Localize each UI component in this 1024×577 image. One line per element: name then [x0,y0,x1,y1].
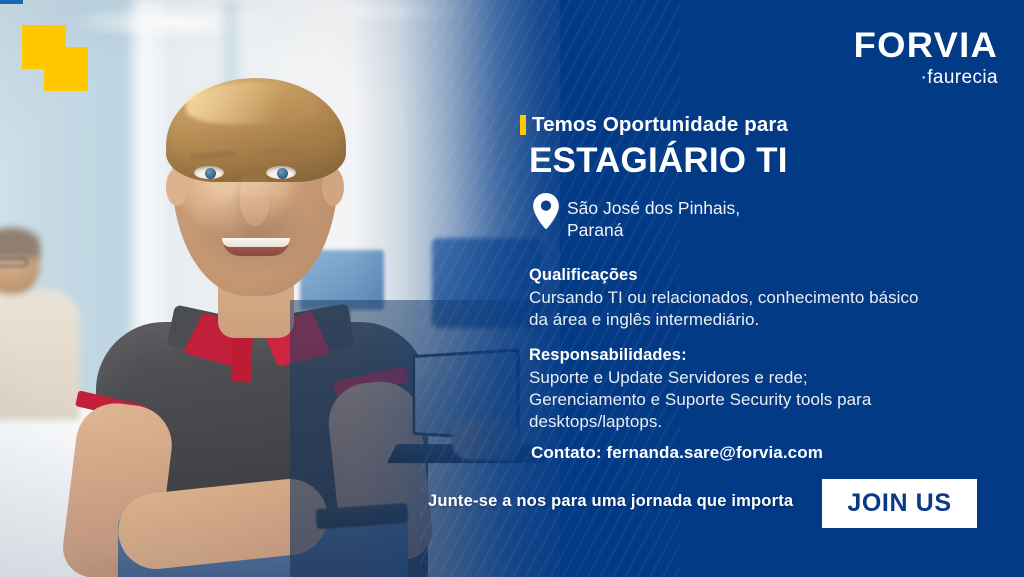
yellow-accent-bar [520,115,526,135]
section-qualificacoes: Qualificações Cursando TI ou relacionado… [529,265,989,331]
location-text: São José dos Pinhais, Paraná [567,192,740,242]
yellow-square-decor-top-b [44,47,88,91]
section-responsabilidades: Responsabilidades: Suporte e Update Serv… [529,345,989,433]
top-left-blue-strip [0,0,23,4]
kicker-text: Temos Oportunidade para [532,115,788,136]
cta-tagline: Junte-se a nos para uma jornada que impo… [428,492,793,511]
kicker-row: Temos Oportunidade para [520,115,788,136]
join-us-button[interactable]: JOIN US [822,479,977,528]
section-body: Suporte e Update Servidores e rede; Gere… [529,367,989,432]
join-us-button-label: JOIN US [847,491,951,516]
section-heading: Responsabilidades: [529,345,989,366]
section-body: Cursando TI ou relacionados, conheciment… [529,287,989,331]
job-posting-poster: FORVIA ·faurecia Temos Oportunidade para… [0,0,1024,577]
page-title: ESTAGIÁRIO TI [529,142,788,180]
section-heading: Qualificações [529,265,989,286]
location-row: São José dos Pinhais, Paraná [532,192,740,242]
map-pin-icon [532,192,560,230]
contact-line[interactable]: Contato: fernanda.sare@forvia.com [531,443,823,463]
